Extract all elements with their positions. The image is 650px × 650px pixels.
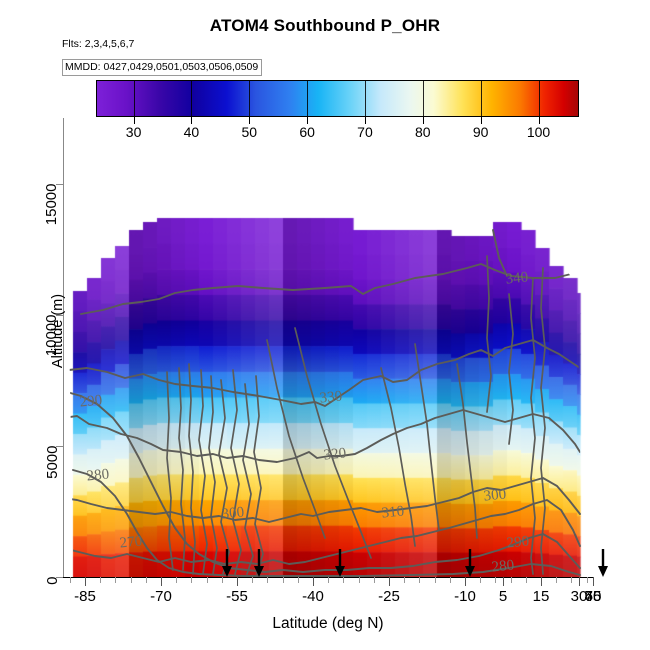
colorbar-gradient bbox=[96, 80, 579, 117]
x-tick bbox=[593, 577, 594, 586]
contour-line bbox=[199, 370, 207, 574]
x-tick-label: 15 bbox=[533, 588, 550, 605]
contour-line bbox=[487, 256, 491, 412]
contour-label: 300 bbox=[483, 486, 507, 505]
x-tick bbox=[161, 577, 162, 586]
y-tick-label: 0 bbox=[44, 577, 61, 585]
plot-area: 340330320310300300290290280280270 050001… bbox=[63, 118, 593, 577]
x-minor-tick bbox=[328, 577, 329, 583]
profile-arrow bbox=[464, 549, 476, 577]
chart-figure: ATOM4 Southbound P_OHR Flts: 2,3,4,5,6,7… bbox=[0, 0, 650, 650]
dates-annotation: MMDD: 0427,0429,0501,0503,0506,0509 bbox=[62, 59, 262, 76]
x-tick bbox=[465, 577, 466, 586]
contour-line bbox=[63, 410, 580, 462]
x-tick-label: -10 bbox=[454, 588, 476, 605]
contour-label: 320 bbox=[323, 445, 347, 464]
x-tick bbox=[237, 577, 238, 586]
x-minor-tick bbox=[587, 577, 588, 583]
x-minor-tick bbox=[343, 577, 344, 583]
x-minor-tick bbox=[115, 577, 116, 583]
profile-arrow bbox=[253, 549, 265, 577]
x-axis-label: Latitude (deg N) bbox=[63, 615, 593, 633]
contour-line bbox=[541, 268, 545, 574]
contour-line bbox=[243, 384, 253, 574]
contour-line bbox=[415, 344, 439, 530]
contour-line bbox=[189, 364, 195, 574]
x-tick-label: -70 bbox=[150, 588, 172, 605]
contour-label: 290 bbox=[506, 533, 530, 552]
contour-line bbox=[295, 328, 371, 558]
contour-label: 280 bbox=[491, 557, 515, 576]
x-minor-tick bbox=[207, 577, 208, 583]
x-minor-tick bbox=[435, 577, 436, 583]
contour-line bbox=[67, 392, 580, 572]
x-tick-label: -25 bbox=[378, 588, 400, 605]
x-minor-tick bbox=[404, 577, 405, 583]
profile-arrow bbox=[334, 549, 346, 577]
contour-label: 280 bbox=[86, 466, 110, 485]
contour-label: 300 bbox=[221, 504, 245, 523]
contour-line bbox=[254, 376, 263, 574]
x-minor-tick bbox=[70, 577, 71, 583]
x-tick-label: 5 bbox=[499, 588, 507, 605]
x-minor-tick bbox=[495, 577, 496, 583]
contour-line bbox=[209, 376, 217, 574]
x-minor-tick bbox=[556, 577, 557, 583]
x-tick bbox=[541, 577, 542, 586]
contour-line bbox=[267, 340, 325, 538]
x-minor-tick bbox=[419, 577, 420, 583]
x-minor-tick bbox=[359, 577, 360, 583]
x-minor-tick bbox=[480, 577, 481, 583]
profile-arrow bbox=[221, 549, 233, 577]
contour-line bbox=[457, 364, 477, 538]
x-minor-tick bbox=[267, 577, 268, 583]
contour-line bbox=[63, 500, 580, 564]
x-minor-tick bbox=[146, 577, 147, 583]
x-minor-tick bbox=[100, 577, 101, 583]
colorbar: 30405060708090100 bbox=[96, 80, 579, 117]
flights-annotation: Flts: 2,3,4,5,6,7 bbox=[62, 38, 134, 50]
contour-line bbox=[531, 278, 535, 574]
x-tick-label: -55 bbox=[226, 588, 248, 605]
x-minor-tick bbox=[283, 577, 284, 583]
profile-arrow bbox=[597, 549, 609, 577]
contour-line bbox=[231, 370, 241, 574]
x-minor-tick bbox=[374, 577, 375, 583]
x-tick-label: -40 bbox=[302, 588, 324, 605]
x-minor-tick bbox=[526, 577, 527, 583]
x-minor-tick bbox=[252, 577, 253, 583]
contour-label: 330 bbox=[319, 388, 343, 407]
contour-label: 290 bbox=[79, 392, 103, 411]
x-minor-tick bbox=[131, 577, 132, 583]
x-minor-tick bbox=[511, 577, 512, 583]
contour-line bbox=[219, 380, 229, 574]
x-tick bbox=[389, 577, 390, 586]
x-tick bbox=[85, 577, 86, 586]
contour-label: 310 bbox=[381, 503, 405, 522]
x-minor-tick bbox=[191, 577, 192, 583]
x-tick bbox=[579, 577, 580, 586]
x-minor-tick bbox=[222, 577, 223, 583]
x-tick bbox=[503, 577, 504, 586]
x-minor-tick bbox=[571, 577, 572, 583]
contour-line bbox=[167, 372, 173, 570]
x-minor-tick bbox=[298, 577, 299, 583]
y-axis-label: Altitude (m) bbox=[50, 161, 66, 501]
x-tick-label: -85 bbox=[74, 588, 96, 605]
x-minor-tick bbox=[176, 577, 177, 583]
contour-label: 270 bbox=[119, 533, 143, 552]
contour-label: 340 bbox=[505, 269, 529, 288]
x-tick-label: 75 bbox=[585, 588, 602, 605]
x-minor-tick bbox=[450, 577, 451, 583]
x-tick bbox=[313, 577, 314, 586]
page-title: ATOM4 Southbound P_OHR bbox=[0, 16, 650, 36]
contour-line bbox=[179, 368, 185, 570]
